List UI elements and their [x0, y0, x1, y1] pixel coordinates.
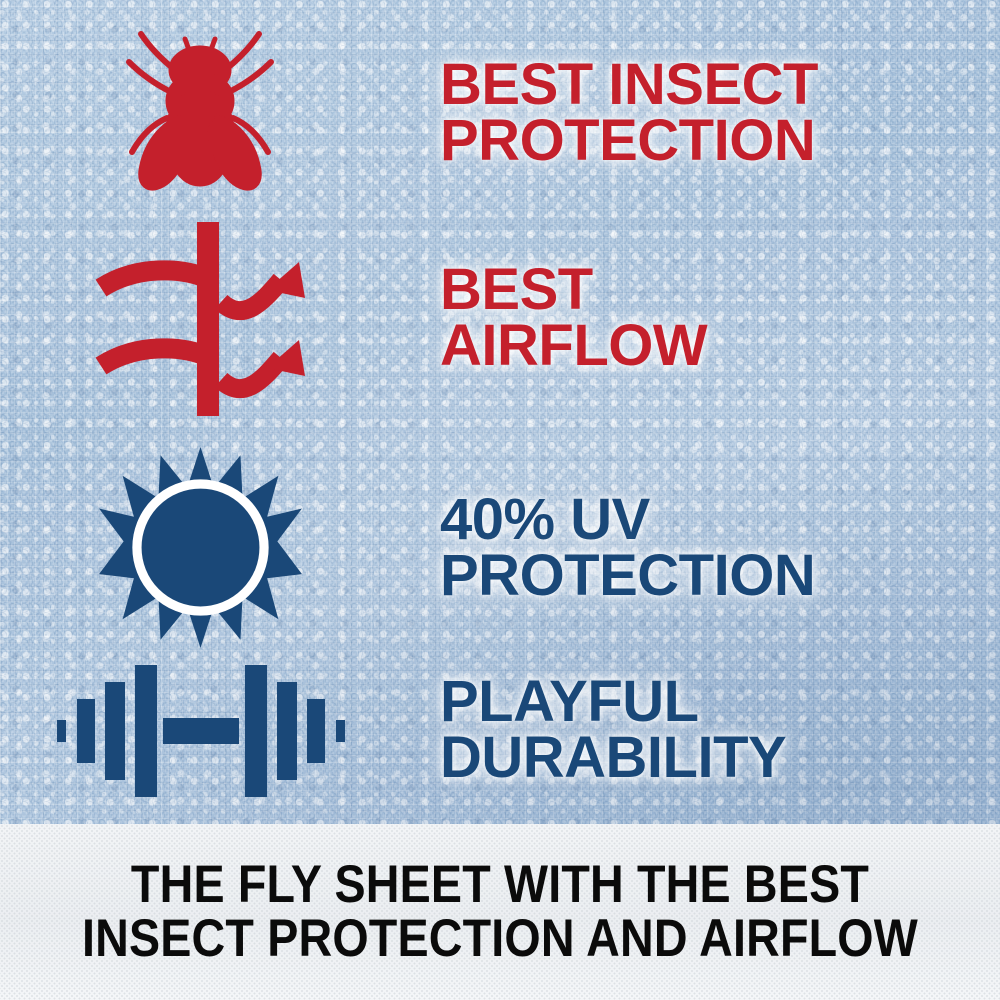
icon-cell-insect-protection [0, 18, 400, 208]
feature-row-insect-protection: BEST INSECT PROTECTION [0, 18, 1000, 208]
icon-cell-uv-protection [0, 445, 400, 650]
feature-title-insect-protection: BEST INSECT PROTECTION [440, 57, 818, 168]
text-cell-airflow: BEST AIRFLOW [400, 262, 1000, 373]
plate-left-2 [77, 699, 95, 763]
handle-bar [163, 718, 239, 744]
airflow-through-barrier-icon [85, 218, 315, 418]
feature-title-airflow: BEST AIRFLOW [440, 262, 707, 373]
caption-banner: THE FLY SHEET WITH THE BEST INSECT PROTE… [0, 824, 1000, 1000]
caption-text: THE FLY SHEET WITH THE BEST INSECT PROTE… [73, 858, 927, 966]
plate-right-2 [307, 699, 325, 763]
fly-icon [105, 18, 295, 208]
icon-cell-durability [0, 655, 400, 805]
feature-list: BEST INSECT PROTECTION [0, 0, 1000, 824]
text-cell-uv-protection: 40% UV PROTECTION [400, 492, 1000, 603]
starburst-shape [99, 447, 302, 648]
feature-row-airflow: BEST AIRFLOW [0, 218, 1000, 418]
text-cell-durability: PLAYFUL DURABILITY [400, 674, 1000, 785]
dumbbell-icon [55, 655, 345, 805]
plate-right-1 [336, 720, 345, 742]
plate-left-4 [135, 665, 157, 797]
feature-title-uv-protection: 40% UV PROTECTION [440, 492, 815, 603]
plate-right-4 [245, 665, 267, 797]
feature-row-uv-protection: 40% UV PROTECTION [0, 440, 1000, 655]
sunburst-uv-icon [98, 445, 303, 650]
feature-title-durability: PLAYFUL DURABILITY [440, 674, 786, 785]
plate-left-1 [57, 720, 66, 742]
plate-left-3 [105, 682, 125, 780]
icon-cell-airflow [0, 218, 400, 418]
text-cell-insect-protection: BEST INSECT PROTECTION [400, 57, 1000, 168]
feature-row-durability: PLAYFUL DURABILITY [0, 650, 1000, 810]
infographic-poster: BEST INSECT PROTECTION [0, 0, 1000, 1000]
plate-right-3 [277, 682, 297, 780]
